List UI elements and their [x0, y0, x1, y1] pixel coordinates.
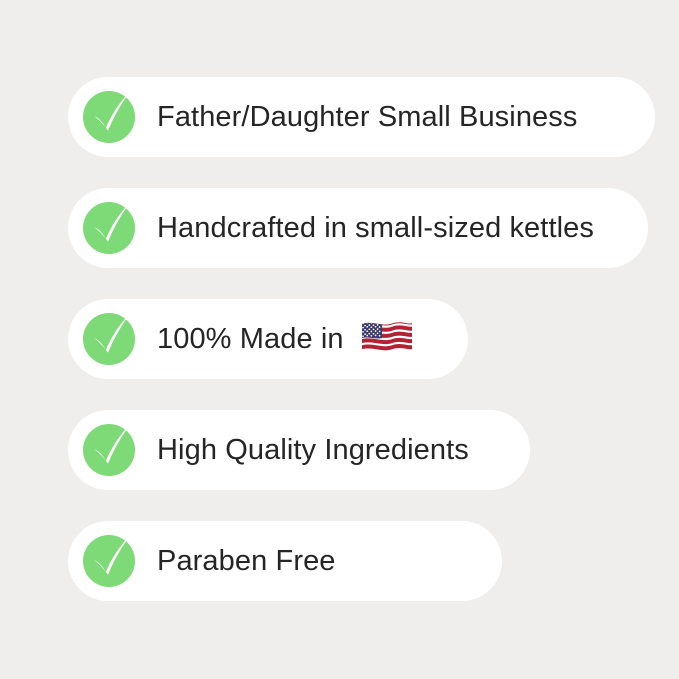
green-check-circle-icon [83, 91, 135, 143]
feature-list: Father/Daughter Small Business Handcraft… [0, 0, 679, 679]
feature-row-2: Handcrafted in small-sized kettles [68, 188, 648, 268]
green-check-circle-icon [83, 202, 135, 254]
feature-row-4: High Quality Ingredients [68, 410, 530, 490]
feature-label: Paraben Free [157, 547, 336, 576]
us-flag-emoji [360, 320, 414, 358]
feature-row-3: 100% Made in [68, 299, 468, 379]
feature-label: High Quality Ingredients [157, 436, 469, 465]
feature-label: 100% Made in [157, 325, 344, 354]
feature-row-1: Father/Daughter Small Business [68, 77, 655, 157]
green-check-circle-icon [83, 313, 135, 365]
green-check-circle-icon [83, 535, 135, 587]
feature-label: Father/Daughter Small Business [157, 103, 577, 132]
feature-row-5: Paraben Free [68, 521, 502, 601]
feature-label: Handcrafted in small-sized kettles [157, 214, 594, 243]
green-check-circle-icon [83, 424, 135, 476]
